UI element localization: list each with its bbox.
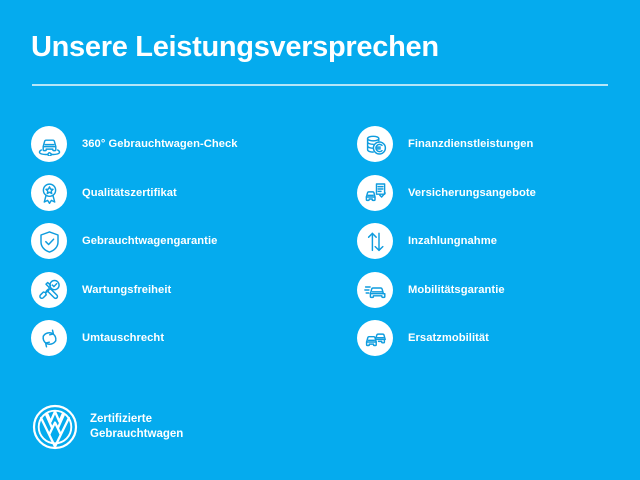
wrench-check-icon bbox=[31, 272, 67, 308]
title-divider bbox=[32, 84, 608, 86]
benefit-label: Mobilitätsgarantie bbox=[408, 284, 505, 296]
benefit-item: Gebrauchtwagengarantie bbox=[31, 223, 311, 259]
arrows-up-down-icon bbox=[357, 223, 393, 259]
car-document-check-icon bbox=[357, 175, 393, 211]
car-motion-icon bbox=[357, 272, 393, 308]
benefit-item: Versicherungsangebote bbox=[357, 175, 637, 211]
brand-lockup: Zertifizierte Gebrauchtwagen bbox=[32, 404, 183, 450]
coins-euro-icon bbox=[357, 126, 393, 162]
two-cars-icon bbox=[357, 320, 393, 356]
benefits-column-left: 360° Gebrauchtwagen-CheckQualitätszertif… bbox=[31, 126, 311, 369]
benefit-label: Versicherungsangebote bbox=[408, 187, 536, 199]
benefit-label: Ersatzmobilität bbox=[408, 332, 489, 344]
brand-text: Zertifizierte Gebrauchtwagen bbox=[90, 412, 183, 442]
page-title: Unsere Leistungsversprechen bbox=[31, 29, 439, 65]
benefit-label: Umtauschrecht bbox=[82, 332, 164, 344]
benefits-column-right: FinanzdienstleistungenVersicherungsangeb… bbox=[357, 126, 637, 369]
benefit-item: 360° Gebrauchtwagen-Check bbox=[31, 126, 311, 162]
benefit-item: Ersatzmobilität bbox=[357, 320, 637, 356]
shield-check-icon bbox=[31, 223, 67, 259]
benefit-label: Wartungsfreiheit bbox=[82, 284, 171, 296]
benefit-label: Finanzdienstleistungen bbox=[408, 138, 533, 150]
award-rosette-icon bbox=[31, 175, 67, 211]
benefit-item: Wartungsfreiheit bbox=[31, 272, 311, 308]
benefit-item: Umtauschrecht bbox=[31, 320, 311, 356]
promise-panel: Unsere Leistungsversprechen 360° Gebrauc… bbox=[0, 0, 640, 480]
benefit-label: Gebrauchtwagengarantie bbox=[82, 235, 217, 247]
brand-line-1: Zertifizierte bbox=[90, 412, 183, 427]
benefit-item: Finanzdienstleistungen bbox=[357, 126, 637, 162]
volkswagen-logo-icon bbox=[32, 404, 78, 450]
car-360-check-icon bbox=[31, 126, 67, 162]
benefit-label: Inzahlungnahme bbox=[408, 235, 497, 247]
brand-line-2: Gebrauchtwagen bbox=[90, 427, 183, 442]
benefit-item: Qualitätszertifikat bbox=[31, 175, 311, 211]
exchange-arrows-icon bbox=[31, 320, 67, 356]
benefit-item: Inzahlungnahme bbox=[357, 223, 637, 259]
benefit-item: Mobilitätsgarantie bbox=[357, 272, 637, 308]
benefit-label: Qualitätszertifikat bbox=[82, 187, 177, 199]
benefit-label: 360° Gebrauchtwagen-Check bbox=[82, 138, 238, 150]
